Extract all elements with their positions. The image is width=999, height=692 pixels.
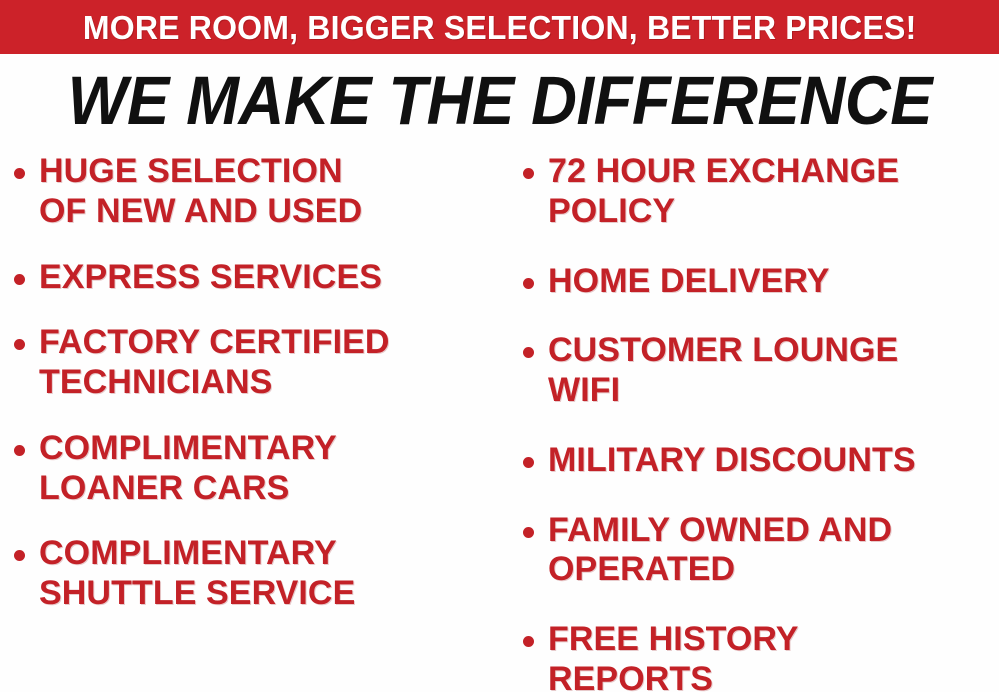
benefits-column-left: HUGE SELECTION OF NEW AND USED EXPRESS S… [0, 152, 505, 640]
bullet-dot-icon [14, 168, 25, 179]
bullet-dot-icon [14, 550, 25, 561]
bullet-dot-icon [14, 339, 25, 350]
bullet-dot-icon [523, 527, 534, 538]
list-item-label: FACTORY CERTIFIED TECHNICIANS [39, 323, 390, 403]
list-item: FREE HISTORY REPORTS [523, 620, 999, 692]
benefits-column-right: 72 HOUR EXCHANGE POLICY HOME DELIVERY CU… [505, 152, 999, 692]
benefits-columns: HUGE SELECTION OF NEW AND USED EXPRESS S… [0, 152, 999, 692]
bullet-dot-icon [14, 274, 25, 285]
list-item-label: 72 HOUR EXCHANGE POLICY [548, 152, 899, 232]
dealership-ad-banner: MORE ROOM, BIGGER SELECTION, BETTER PRIC… [0, 0, 999, 692]
list-item: CUSTOMER LOUNGE WIFI [523, 331, 999, 411]
bullet-dot-icon [523, 278, 534, 289]
list-item: EXPRESS SERVICES [14, 258, 505, 298]
bullet-dot-icon [523, 636, 534, 647]
list-item: MILITARY DISCOUNTS [523, 441, 999, 481]
list-item-label: HUGE SELECTION OF NEW AND USED [39, 152, 362, 232]
bullet-dot-icon [523, 457, 534, 468]
list-item-label: FAMILY OWNED AND OPERATED [548, 511, 892, 591]
list-item: FAMILY OWNED AND OPERATED [523, 511, 999, 591]
bullet-dot-icon [523, 347, 534, 358]
list-item-label: MILITARY DISCOUNTS [548, 441, 916, 481]
promo-banner: MORE ROOM, BIGGER SELECTION, BETTER PRIC… [0, 0, 999, 54]
list-item: 72 HOUR EXCHANGE POLICY [523, 152, 999, 232]
list-item: COMPLIMENTARY LOANER CARS [14, 429, 505, 509]
list-item-label: FREE HISTORY REPORTS [548, 620, 799, 692]
list-item-label: COMPLIMENTARY LOANER CARS [39, 429, 337, 509]
bullet-dot-icon [523, 168, 534, 179]
bullet-dot-icon [14, 445, 25, 456]
list-item-label: EXPRESS SERVICES [39, 258, 382, 298]
page-title: WE MAKE THE DIFFERENCE [67, 66, 931, 135]
list-item: HUGE SELECTION OF NEW AND USED [14, 152, 505, 232]
promo-banner-text: MORE ROOM, BIGGER SELECTION, BETTER PRIC… [83, 11, 917, 44]
list-item: FACTORY CERTIFIED TECHNICIANS [14, 323, 505, 403]
list-item-label: COMPLIMENTARY SHUTTLE SERVICE [39, 534, 355, 614]
list-item-label: HOME DELIVERY [548, 262, 830, 302]
headline-container: WE MAKE THE DIFFERENCE [0, 60, 999, 140]
list-item: HOME DELIVERY [523, 262, 999, 302]
list-item-label: CUSTOMER LOUNGE WIFI [548, 331, 898, 411]
list-item: COMPLIMENTARY SHUTTLE SERVICE [14, 534, 505, 614]
